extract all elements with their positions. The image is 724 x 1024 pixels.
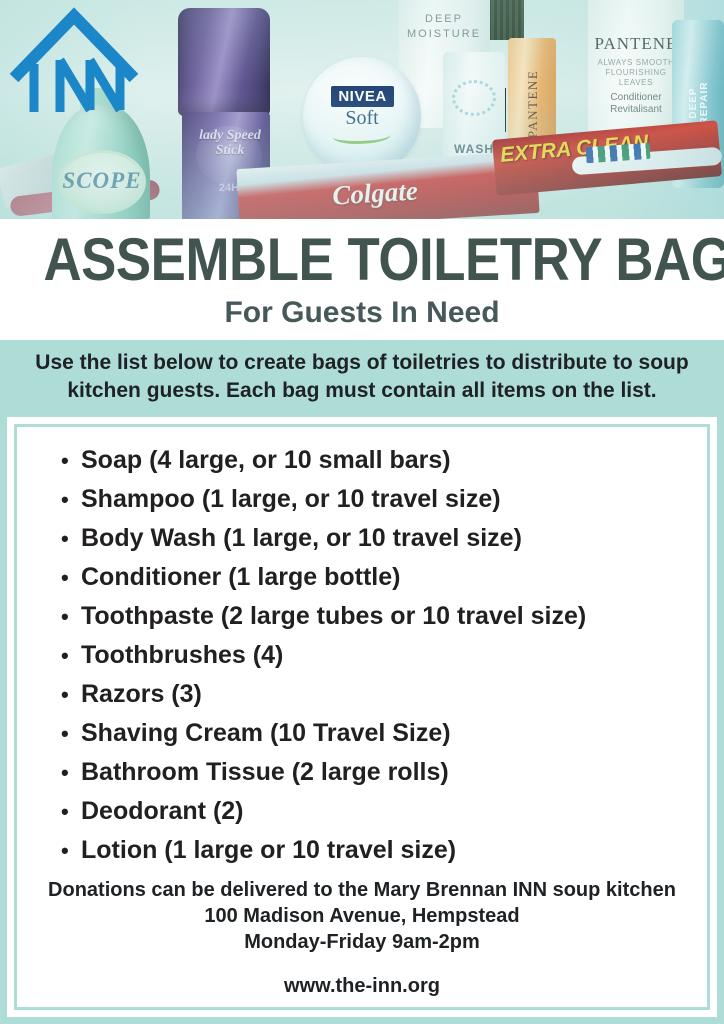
list-item: Soap (4 large, or 10 small bars): [61, 441, 687, 480]
list-item: Shaving Cream (10 Travel Size): [61, 714, 687, 753]
product-pantene-brand: PANTENE: [588, 34, 684, 54]
inn-logo[interactable]: [8, 4, 140, 116]
donation-dropoff-line: Donations can be delivered to the Mary B…: [37, 877, 687, 903]
product-speedstick-brand: lady Speed Stick: [194, 128, 266, 158]
page-subtitle: For Guests In Need: [0, 295, 724, 331]
product-nivea-brand: NIVEA: [331, 86, 394, 107]
list-item: Conditioner (1 large bottle): [61, 558, 687, 597]
list-item: Toothpaste (2 large tubes or 10 travel s…: [61, 597, 687, 636]
website-url[interactable]: www.the-inn.org: [37, 974, 687, 998]
title-block: ASSEMBLE TOILETRY BAGS For Guests In Nee…: [0, 219, 724, 331]
list-item: Toothbrushes (4): [61, 636, 687, 675]
product-speedstick-cap: [178, 8, 270, 116]
instruction-text: Use the list below to create bags of toi…: [26, 349, 698, 405]
footer-block: Donations can be delivered to the Mary B…: [37, 877, 687, 998]
product-scope-brand: SCOPE: [58, 168, 146, 194]
product-nivea-variant: Soft: [303, 107, 421, 130]
list-item: Bathroom Tissue (2 large rolls): [61, 753, 687, 792]
donation-address-line: 100 Madison Avenue, Hempstead: [37, 903, 687, 929]
donation-hours-line: Monday-Friday 9am-2pm: [37, 929, 687, 955]
product-nivea-badge: NIVEA: [331, 86, 394, 107]
toiletry-bag-flyer: SCOPE lady Speed Stick 24H DEEP MOISTURE…: [0, 0, 724, 1024]
product-body-wash-ring: [452, 80, 496, 116]
page-title: ASSEMBLE TOILETRY BAGS: [43, 229, 680, 291]
product-pantene-tall-brand: PANTENE: [525, 65, 541, 143]
header-photo-banner: SCOPE lady Speed Stick 24H DEEP MOISTURE…: [0, 0, 724, 219]
list-item: Deodorant (2): [61, 792, 687, 831]
list-item: Body Wash (1 large, or 10 travel size): [61, 519, 687, 558]
product-pantene-sub: ALWAYS SMOOTH FLOURISHING LEAVES: [588, 58, 684, 88]
list-item: Razors (3): [61, 675, 687, 714]
instruction-band: Use the list below to create bags of toi…: [0, 340, 724, 416]
list-item: Shampoo (1 large, or 10 travel size): [61, 480, 687, 519]
list-panel-outer-border: Soap (4 large, or 10 small bars) Shampoo…: [0, 410, 724, 1024]
toiletry-item-list: Soap (4 large, or 10 small bars) Shampoo…: [61, 441, 687, 870]
list-panel-inner-border: Soap (4 large, or 10 small bars) Shampoo…: [14, 424, 710, 1010]
list-item: Lotion (1 large or 10 travel size): [61, 831, 687, 870]
product-deep-moisture-brand: DEEP MOISTURE: [398, 12, 490, 42]
